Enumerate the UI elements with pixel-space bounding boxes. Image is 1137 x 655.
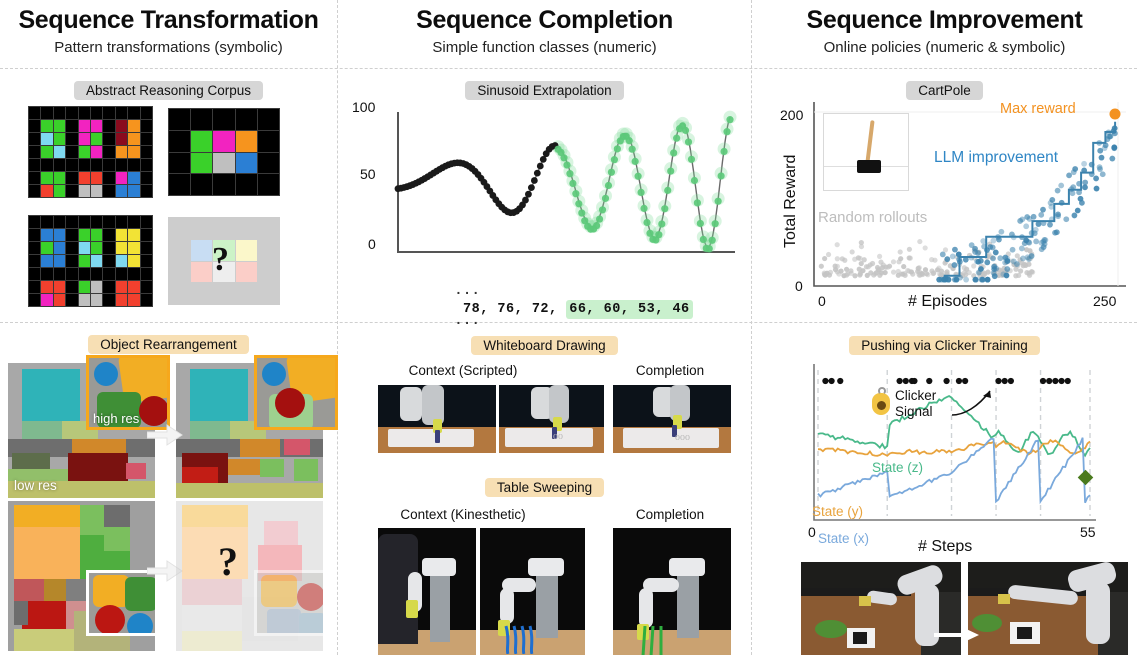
arc-cell (91, 268, 102, 280)
arc-cell (103, 268, 114, 280)
sinusoid-badge: Sinusoid Extrapolation (465, 81, 623, 100)
arc-cell (258, 240, 279, 261)
sinusoid-ytick-100: 100 (352, 99, 375, 115)
arc-cell (91, 255, 102, 267)
arc-cell (66, 255, 77, 267)
arc-cell (236, 174, 257, 195)
arc-cell (128, 146, 139, 158)
arc-cell (191, 153, 212, 174)
arc-cell (29, 120, 40, 132)
broom-bristles-icon (641, 626, 681, 655)
arc-cell (236, 109, 257, 130)
arc-cell (91, 229, 102, 241)
arc-cell (103, 185, 114, 197)
arc-cell (258, 262, 279, 283)
arc-cell (116, 242, 127, 254)
arc-cell (91, 107, 102, 119)
arc-cell (128, 294, 139, 306)
arc-cell (66, 120, 77, 132)
arc-cell (41, 294, 52, 306)
arc-cell (141, 281, 152, 293)
arc-cell (141, 146, 152, 158)
arc-cell (54, 159, 65, 171)
arc-cell (191, 218, 212, 239)
arc-cell (191, 240, 212, 261)
arc-cell (116, 216, 127, 228)
cartpole-ylabel: Total Reward (782, 155, 800, 248)
arc-cell (79, 216, 90, 228)
rearrange-highres-input-1: high res (86, 355, 170, 430)
header-divider (0, 68, 1137, 69)
arc-cell (169, 262, 190, 283)
arc-cell (79, 242, 90, 254)
arc-cell (41, 146, 52, 158)
arc-cell (79, 268, 90, 280)
arc-cell (54, 185, 65, 197)
arc-cell (213, 174, 234, 195)
arc-cell (258, 283, 279, 304)
arc-cell (79, 294, 90, 306)
arc-cell (54, 294, 65, 306)
whiteboard-badge-wrap: Whiteboard Drawing (338, 336, 751, 355)
arc-cell (213, 109, 234, 130)
clicker-badge-wrap: Pushing via Clicker Training (752, 336, 1137, 355)
arc-cell (103, 294, 114, 306)
arc-cell (128, 107, 139, 119)
arc-cell (116, 133, 127, 145)
rearrange-question-mark: ? (218, 538, 238, 585)
arc-cell (91, 294, 102, 306)
cartpole-xtick-0: 0 (818, 293, 826, 309)
whiteboard-context-caption: Context (Scripted) (348, 363, 578, 378)
arc-badge-wrap: Abstract Reasoning Corpus (0, 81, 337, 100)
arc-cell (54, 146, 65, 158)
arc-cell (66, 172, 77, 184)
arc-cell (29, 159, 40, 171)
arc-cell (258, 174, 279, 195)
arc-cell (41, 185, 52, 197)
arc-cell (141, 294, 152, 306)
arc-cell (128, 133, 139, 145)
sequence-prefix-dots: ··· (454, 287, 480, 302)
clicker-signal-label: ClickerSignal (895, 388, 936, 419)
arc-cell (79, 172, 90, 184)
column-subtitle: Online policies (numeric & symbolic) (752, 39, 1137, 56)
arc-cell (79, 281, 90, 293)
arc-cell (79, 146, 90, 158)
arc-cell (141, 268, 152, 280)
arc-cell (141, 185, 152, 197)
arc-cell (169, 131, 190, 152)
arc-cell (91, 120, 102, 132)
arc-example1-input-grid (28, 106, 153, 198)
arc-question-mark: ? (212, 241, 229, 279)
column-subtitle: Simple function classes (numeric) (338, 39, 751, 56)
arc-cell (91, 216, 102, 228)
arc-cell (116, 172, 127, 184)
arc-example1-output-grid (168, 108, 280, 196)
arc-cell (29, 281, 40, 293)
sinusoid-ytick-0: 0 (368, 236, 376, 252)
rearrange-highres-output-2-masked (254, 570, 326, 636)
arc-cell (116, 268, 127, 280)
arc-cell (66, 146, 77, 158)
arc-cell (191, 174, 212, 195)
arc-cell (236, 262, 257, 283)
arc-cell (29, 242, 40, 254)
arc-cell (91, 242, 102, 254)
arc-cell (141, 255, 152, 267)
arc-cell (103, 281, 114, 293)
arc-cell (29, 216, 40, 228)
clicker-whistle-icon (870, 387, 892, 415)
arc-cell (169, 174, 190, 195)
arc-cell (103, 159, 114, 171)
arc-cell (116, 281, 127, 293)
arc-cell (54, 229, 65, 241)
arc-cell (128, 216, 139, 228)
broom-bristles-icon (504, 624, 550, 654)
arc-cell (66, 281, 77, 293)
rearrange-highres-output-1 (254, 355, 338, 430)
arc-cell (103, 120, 114, 132)
arc-cell (169, 153, 190, 174)
rearrange-lowres-label: low res (14, 478, 57, 493)
arc-cell (141, 120, 152, 132)
arc-cell (29, 172, 40, 184)
sweeping-context-caption: Context (Kinesthetic) (348, 507, 578, 522)
arc-cell (128, 185, 139, 197)
column-subtitle: Pattern transformations (symbolic) (0, 39, 337, 56)
arc-cell (116, 255, 127, 267)
arc-cell (141, 216, 152, 228)
cartpole-xlabel: # Episodes (908, 293, 987, 311)
arc-cell (141, 172, 152, 184)
sweeping-badge: Table Sweeping (485, 478, 604, 497)
arc-example2-input-grid (28, 215, 153, 307)
arc-cell (54, 172, 65, 184)
arc-cell (103, 172, 114, 184)
arc-cell (41, 255, 52, 267)
sinusoid-badge-wrap: Sinusoid Extrapolation (338, 81, 751, 100)
column-header-1: Sequence Transformation Pattern transfor… (0, 6, 337, 56)
arc-cell (213, 153, 234, 174)
clicker-xtick-0: 0 (808, 524, 816, 540)
whiteboard-completion-frame: ooo (613, 385, 731, 453)
arc-cell (258, 153, 279, 174)
arc-cell (91, 146, 102, 158)
cartpole-max-reward-label: Max reward (1000, 101, 1076, 117)
rearrange-badge-wrap: Object Rearrangement (0, 335, 337, 354)
arrow-icon (147, 424, 183, 446)
arc-cell (79, 133, 90, 145)
arc-cell (103, 229, 114, 241)
arc-cell (54, 281, 65, 293)
arc-cell (236, 218, 257, 239)
arc-cell (128, 159, 139, 171)
arc-cell (66, 159, 77, 171)
arc-cell (128, 120, 139, 132)
arc-cell (258, 109, 279, 130)
arc-cell (103, 242, 114, 254)
cartpole-badge: CartPole (906, 81, 983, 100)
arc-cell (91, 159, 102, 171)
arc-cell (128, 281, 139, 293)
arc-cell (258, 131, 279, 152)
arc-cell (54, 242, 65, 254)
arc-cell (116, 107, 127, 119)
arc-cell (29, 294, 40, 306)
arc-cell (29, 107, 40, 119)
arc-cell (141, 107, 152, 119)
arc-cell (54, 107, 65, 119)
arc-cell (79, 107, 90, 119)
sinusoid-chart (352, 106, 737, 266)
arc-cell (258, 218, 279, 239)
column-title: Sequence Improvement (752, 6, 1137, 35)
figure-root: Sequence Transformation Pattern transfor… (0, 0, 1137, 655)
arc-cell (116, 146, 127, 158)
arc-cell (41, 172, 52, 184)
arc-cell (213, 218, 234, 239)
arc-cell (41, 120, 52, 132)
arc-cell (128, 255, 139, 267)
arc-cell (169, 283, 190, 304)
cartpole-random-rollouts-label: Random rollouts (818, 209, 927, 226)
arc-cell (128, 242, 139, 254)
arc-cell (29, 255, 40, 267)
column-header-2: Sequence Completion Simple function clas… (338, 6, 751, 56)
clicker-signal-arrow-icon (950, 385, 996, 419)
whiteboard-context-frame-1 (378, 385, 496, 453)
sequence-suffix-dots: ··· (454, 317, 480, 332)
sweeping-badge-wrap: Table Sweeping (338, 478, 751, 497)
whiteboard-badge: Whiteboard Drawing (471, 336, 617, 355)
arc-cell (41, 242, 52, 254)
sequence-context-values: 78, 76, 72, (454, 302, 566, 317)
whiteboard-completion-caption: Completion (600, 363, 740, 378)
arc-cell (91, 281, 102, 293)
sweeping-completion-caption: Completion (600, 507, 740, 522)
arc-cell (79, 229, 90, 241)
sinusoid-plot (352, 106, 737, 266)
arc-cell (116, 185, 127, 197)
arc-cell (236, 153, 257, 174)
sweeping-completion-frame (613, 528, 731, 655)
arc-cell (41, 281, 52, 293)
arc-cell (41, 107, 52, 119)
arc-cell (128, 268, 139, 280)
arc-cell (191, 262, 212, 283)
arc-cell (213, 131, 234, 152)
arc-cell (54, 133, 65, 145)
arc-cell (116, 120, 127, 132)
arc-cell (116, 159, 127, 171)
arc-cell (54, 255, 65, 267)
arc-cell (29, 268, 40, 280)
arc-cell (169, 218, 190, 239)
sequence-predicted-values: 66, 60, 53, 46 (566, 300, 692, 319)
arc-cell (236, 283, 257, 304)
arc-cell (191, 283, 212, 304)
arc-cell (66, 133, 77, 145)
arc-cell (128, 229, 139, 241)
arc-cell (41, 229, 52, 241)
arc-cell (116, 294, 127, 306)
arc-cell (79, 255, 90, 267)
arc-cell (29, 133, 40, 145)
arc-cell (41, 159, 52, 171)
arc-cell (213, 283, 234, 304)
arc-cell (91, 172, 102, 184)
arc-cell (29, 146, 40, 158)
arc-cell (128, 172, 139, 184)
arc-cell (191, 131, 212, 152)
rearrange-badge: Object Rearrangement (88, 335, 249, 354)
arc-cell (41, 133, 52, 145)
arc-cell (66, 242, 77, 254)
arc-cell (103, 255, 114, 267)
cartpole-badge-wrap: CartPole (752, 81, 1137, 100)
arc-cell (141, 159, 152, 171)
arc-cell (236, 131, 257, 152)
clicker-badge: Pushing via Clicker Training (849, 336, 1040, 355)
arrow-icon (934, 627, 980, 643)
arc-cell (91, 133, 102, 145)
arc-cell (141, 133, 152, 145)
state-z-label: State (z) (872, 460, 923, 475)
cartpole-icon (823, 113, 909, 191)
cartpole-ytick-0: 0 (795, 278, 803, 294)
arc-cell (169, 240, 190, 261)
arc-cell (29, 229, 40, 241)
cartpole-ytick-200: 200 (780, 107, 803, 123)
arc-cell (236, 240, 257, 261)
column-title: Sequence Completion (338, 6, 751, 35)
arc-cell (41, 268, 52, 280)
cartpole-xtick-250: 250 (1093, 293, 1116, 309)
sinusoid-ytick-50: 50 (360, 166, 376, 182)
clicker-xtick-55: 55 (1080, 524, 1096, 540)
arc-cell (141, 242, 152, 254)
cartpole-llm-improvement-label: LLM improvement (934, 149, 1058, 167)
arc-cell (66, 268, 77, 280)
arc-cell (79, 185, 90, 197)
state-x-label: State (x) (818, 531, 869, 546)
arc-cell (29, 185, 40, 197)
arc-cell (66, 294, 77, 306)
sweeping-context-frame-2 (480, 528, 585, 655)
arc-cell (103, 107, 114, 119)
arc-cell (79, 159, 90, 171)
arc-cell (79, 120, 90, 132)
arc-cell (54, 120, 65, 132)
clicker-xlabel: # Steps (918, 538, 972, 556)
arc-cell (54, 268, 65, 280)
arc-cell (66, 216, 77, 228)
arc-cell (103, 133, 114, 145)
column-title: Sequence Transformation (0, 6, 337, 35)
arc-cell (191, 109, 212, 130)
arc-cell (103, 216, 114, 228)
whiteboard-context-frame-2: oo (499, 385, 604, 453)
arc-badge: Abstract Reasoning Corpus (74, 81, 263, 100)
arc-cell (91, 185, 102, 197)
arc-cell (66, 229, 77, 241)
rearrange-highres-label: high res (93, 411, 139, 426)
arc-cell (54, 216, 65, 228)
pushing-after-frame (968, 562, 1128, 655)
state-y-label: State (y) (812, 504, 863, 519)
arc-cell (141, 229, 152, 241)
arc-cell (116, 229, 127, 241)
arc-cell (41, 216, 52, 228)
arc-cell (169, 109, 190, 130)
arc-cell (66, 107, 77, 119)
arc-cell (66, 185, 77, 197)
arc-cell (103, 146, 114, 158)
column-header-3: Sequence Improvement Online policies (nu… (752, 6, 1137, 56)
sweeping-context-frame-1 (378, 528, 476, 655)
